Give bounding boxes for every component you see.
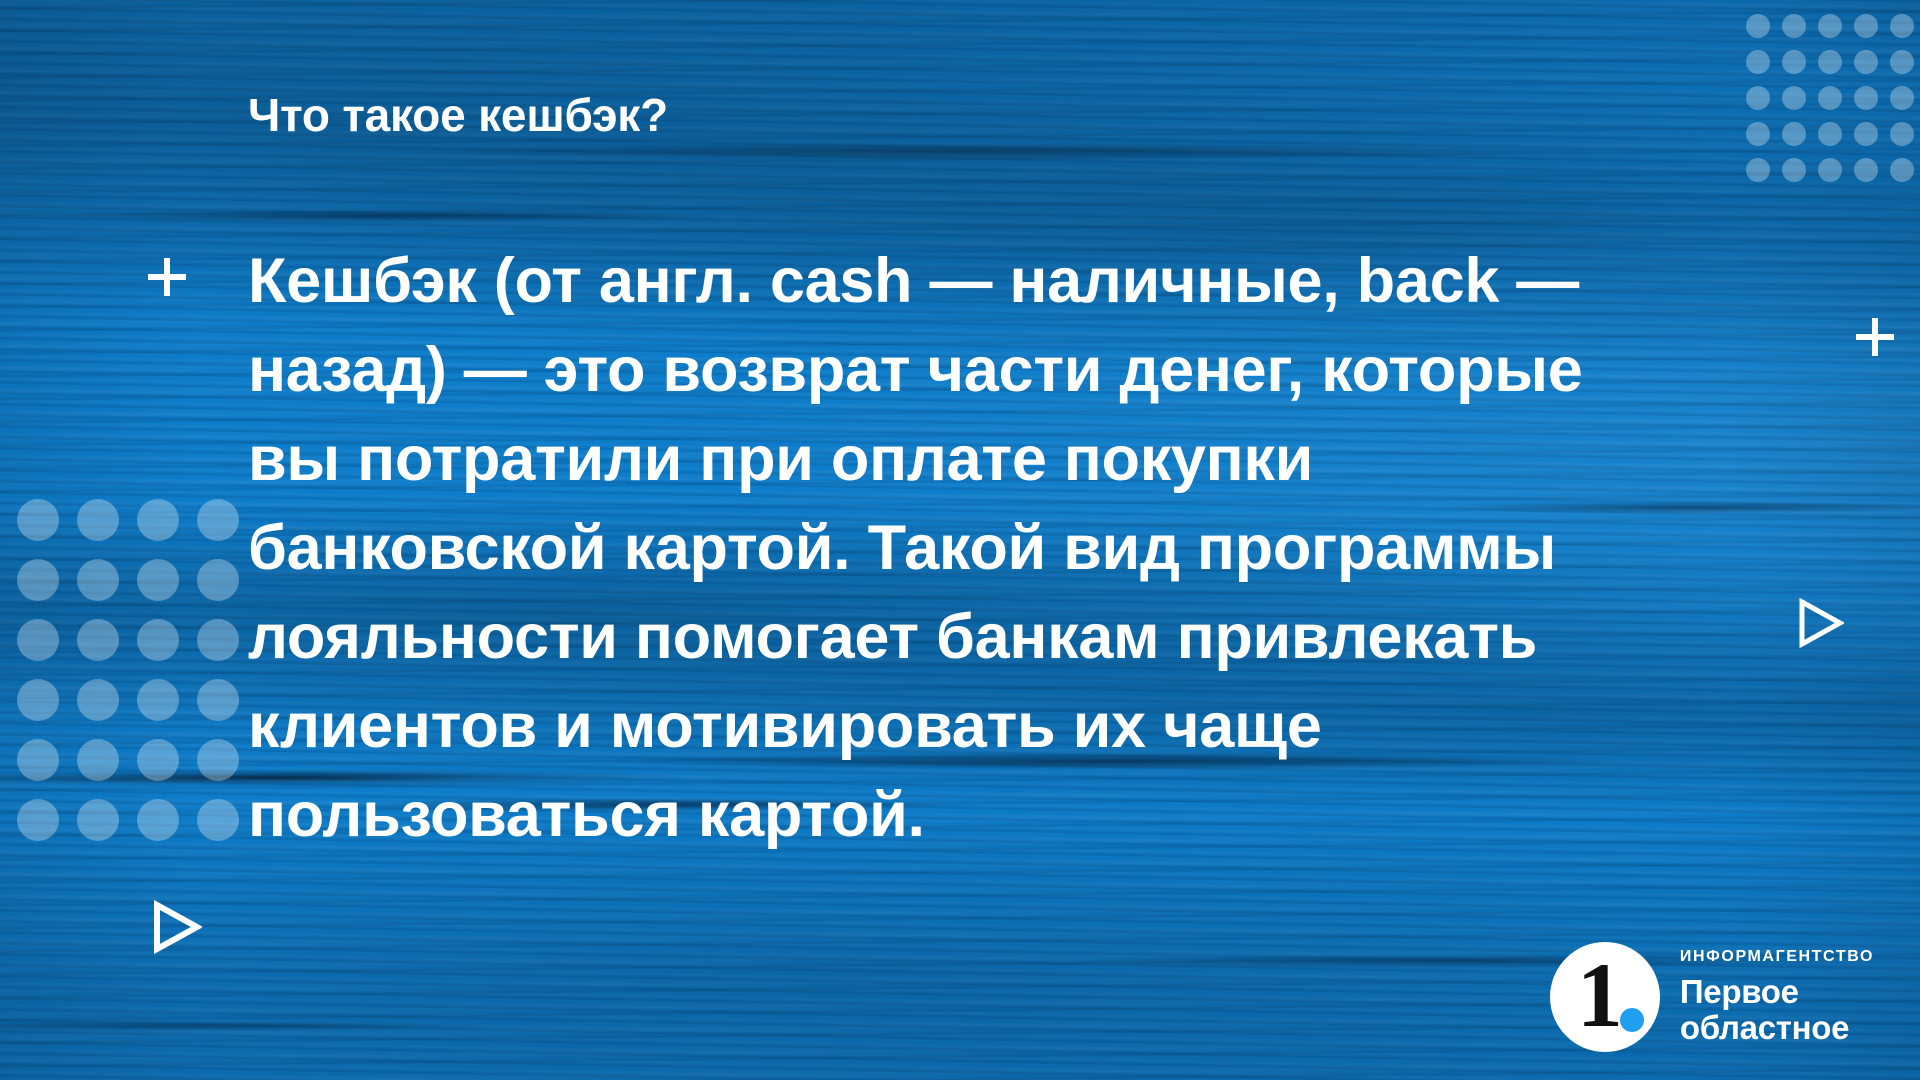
slide-canvas: Что такое кешбэк? Кешбэк (от англ. cash … [0,0,1920,1080]
decorative-dot [17,739,59,781]
decorative-dot [77,499,119,541]
logo-accent-dot-icon [1620,1008,1644,1032]
decorative-dot [197,619,239,661]
decorative-dot [77,799,119,841]
decorative-dot [1782,50,1806,74]
plus-icon-right [1856,318,1894,356]
decorative-dot [137,499,179,541]
decorative-dot [1854,122,1878,146]
logo-kicker-text: ИНФОРМАГЕНТСТВО [1680,949,1874,965]
decorative-dot [1854,14,1878,38]
decorative-dot [137,559,179,601]
decorative-dot [1746,86,1770,110]
decorative-dot [197,499,239,541]
decorative-dot [1854,50,1878,74]
decorative-dot [1890,86,1914,110]
logo-numeral-one: 1 [1550,949,1660,1041]
decorative-dot [17,799,59,841]
decorative-dot [137,619,179,661]
decorative-dot [197,799,239,841]
logo-wordmark: ИНФОРМАГЕНТСТВО Первое областное [1680,949,1874,1046]
decorative-dot [1746,50,1770,74]
play-triangle-icon-right [1798,598,1844,648]
decorative-dot [1782,86,1806,110]
decorative-dot [17,499,59,541]
decorative-dot [1854,158,1878,182]
decorative-dot [1746,158,1770,182]
decorative-dot [77,559,119,601]
decorative-dot-grid-top-right [1740,8,1920,188]
decorative-dot [77,619,119,661]
decorative-dot [1782,122,1806,146]
slide-title: Что такое кешбэк? [248,90,1678,141]
decorative-dot [1782,158,1806,182]
decorative-dot [77,739,119,781]
decorative-dot-grid-left [8,490,248,850]
decorative-dot [77,679,119,721]
decorative-dot [197,739,239,781]
decorative-dot [137,739,179,781]
decorative-dot [1818,122,1842,146]
brand-logo: 1 ИНФОРМАГЕНТСТВО Первое областное [1550,942,1874,1052]
decorative-dot [1890,50,1914,74]
decorative-dot [1890,158,1914,182]
decorative-dot [197,679,239,721]
decorative-dot [1746,14,1770,38]
decorative-dot [1782,14,1806,38]
decorative-dot [17,619,59,661]
decorative-dot [1818,158,1842,182]
slide-content: Что такое кешбэк? Кешбэк (от англ. cash … [248,90,1678,860]
decorative-dot [1890,14,1914,38]
slide-body-text: Кешбэк (от англ. cash — наличные, back —… [248,141,1678,860]
plus-icon-left [148,258,186,296]
logo-name-line-2: областное [1680,1010,1874,1046]
decorative-dot [1818,86,1842,110]
decorative-dot [1854,86,1878,110]
decorative-dot [17,679,59,721]
decorative-dot [1818,14,1842,38]
decorative-dot [137,799,179,841]
decorative-dot [1818,50,1842,74]
decorative-dot [197,559,239,601]
logo-mark-circle: 1 [1550,942,1660,1052]
decorative-dot [1746,122,1770,146]
logo-name-line-1: Первое [1680,974,1874,1010]
decorative-dot [1890,122,1914,146]
decorative-dot [17,559,59,601]
play-triangle-icon-bottom-left [152,900,202,954]
decorative-dot [137,679,179,721]
